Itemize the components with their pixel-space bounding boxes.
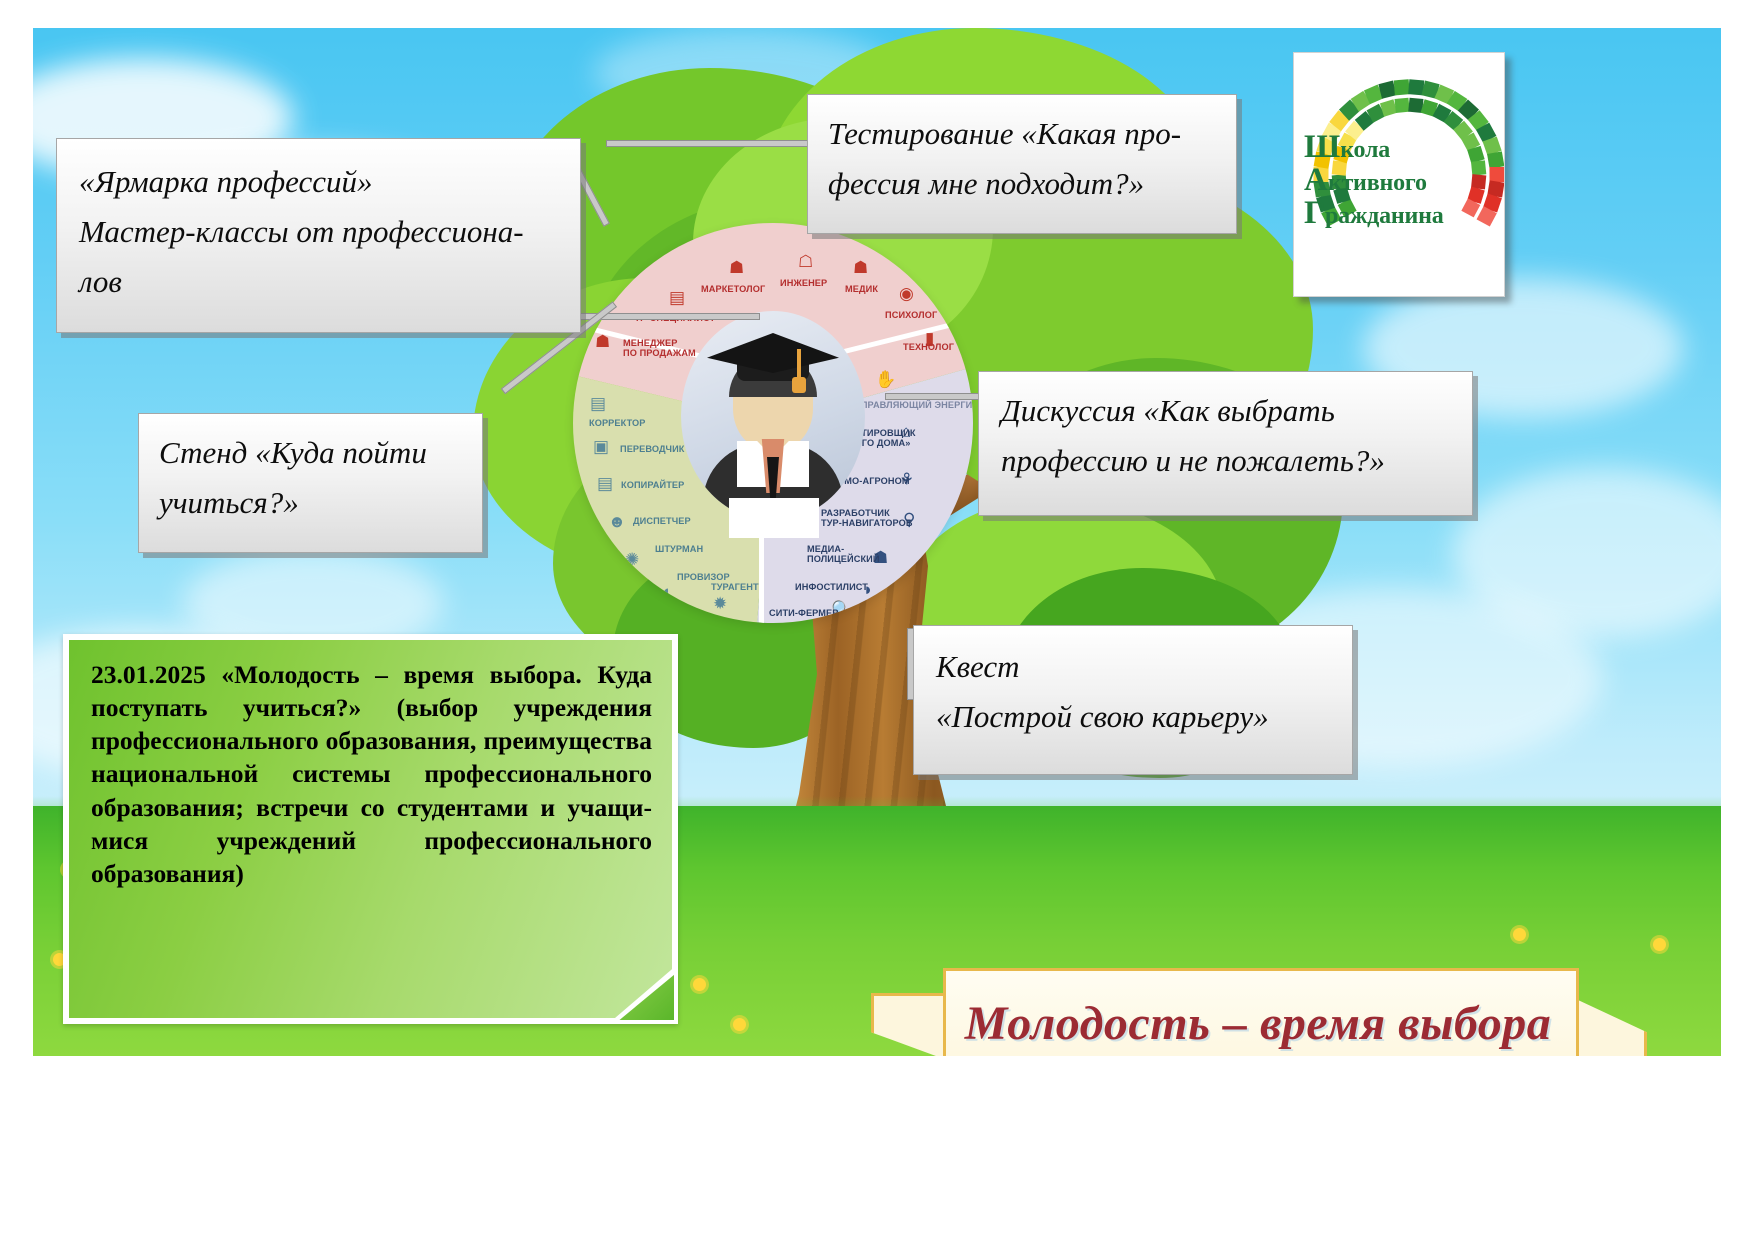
shkola-aktivnogo-grazhdanina-logo[interactable]: Школа Активного Гражданина <box>1293 52 1505 297</box>
callout-line: Стенд «Куда пойти <box>159 428 462 478</box>
tassel-knot <box>792 377 806 393</box>
green-note-description[interactable]: 23.01.2025 «Молодость – время выбора. Ку… <box>63 634 678 1024</box>
mortarboard-icon <box>707 333 839 373</box>
wheel-label: ИНФОСТИЛИСТ <box>795 583 868 593</box>
callout-line: Квест <box>936 642 1330 692</box>
wheel-label: МЕНЕДЖЕР ПО ПРОДАЖАМ <box>623 339 696 359</box>
logo-line1-cap: Ш <box>1304 129 1340 165</box>
wheel-label: МЕДИК <box>845 285 878 295</box>
logo-line2-cap: А <box>1304 162 1328 198</box>
callout-line: Мастер-классы от профессиона- <box>79 207 558 257</box>
brain-icon: ◉ <box>899 285 914 302</box>
callout-line: учиться?» <box>159 478 462 528</box>
wheel-label: СИТИ-ФЕРМЕР <box>769 609 839 619</box>
callout-testirovanie[interactable]: Тестирование «Какая про- фессия мне подх… <box>807 94 1237 234</box>
salesman-icon: ☗ <box>595 333 610 350</box>
callout-line: профессию и не пожалеть?» <box>1001 436 1450 486</box>
professions-wheel: ▤ IT- СПЕЦИАЛИСТ ☗ МАРКЕТОЛОГ ☖ ИНЖЕНЕР … <box>573 223 973 623</box>
green-note-text: 23.01.2025 «Молодость – время выбора. Ку… <box>91 660 652 888</box>
graduate-avatar <box>681 311 865 521</box>
logo-line3-cap: Г <box>1304 195 1325 231</box>
callout-line: Тестирование «Какая про- <box>828 109 1216 159</box>
callout-stend[interactable]: Стенд «Куда пойти учиться?» <box>138 413 483 553</box>
wheel-label: ИНЖЕНЕР <box>780 279 827 289</box>
wheel-label: МАРКЕТОЛОГ <box>701 285 765 295</box>
callout-line: «Ярмарка профессий» <box>79 157 558 207</box>
tassel-icon <box>797 349 801 379</box>
ship-wheel-icon: ✺ <box>625 551 639 568</box>
logo-line2-rest: ктивного <box>1328 170 1427 196</box>
wheel-label: ПСИХОЛОГ <box>885 311 937 321</box>
doctor-icon: ☗ <box>853 259 868 276</box>
callout-line: «Построй свою карьеру» <box>936 692 1330 742</box>
ribbon-title: Молодость – время выбора <box>943 968 1573 1056</box>
wheel-label: ШТУРМАН <box>655 545 703 555</box>
wheel-label: ТУРАГЕНТ <box>711 583 759 593</box>
translate-icon: ▣ <box>593 438 609 455</box>
callout-diskussiya[interactable]: Дискуссия «Как выбрать профессию и не по… <box>978 371 1473 516</box>
engineer-icon: ☖ <box>798 253 813 270</box>
document-icon: ▤ <box>597 475 613 492</box>
wheel-label: ДИСПЕТЧЕР <box>633 517 691 527</box>
whiteboard-icon: ▤ <box>590 395 606 412</box>
callout-kvest[interactable]: Квест «Построй свою карьеру» <box>913 625 1353 775</box>
logo-line1-rest: кола <box>1340 137 1390 163</box>
wheel-label: ГМО-АГРОНОМ <box>839 477 910 487</box>
code-window-icon: ▤ <box>669 289 685 306</box>
wheel-label: МЕДИА- ПОЛИЦЕЙСКИЙ <box>807 545 880 565</box>
white-patch <box>729 498 819 538</box>
flower-icon <box>1653 938 1666 951</box>
logo-text: Школа Активного Гражданина <box>1304 131 1454 230</box>
flower-icon <box>693 978 706 991</box>
wheel-label: КОПИРАЙТЕР <box>621 481 684 491</box>
pills-icon: ◖ <box>661 583 671 600</box>
callout-line: фессия мне подходит?» <box>828 159 1216 209</box>
flower-icon <box>1513 928 1526 941</box>
presenter-icon: ☗ <box>729 259 744 276</box>
callout-yarmarka-professiy[interactable]: «Ярмарка профессий» Мастер-классы от про… <box>56 138 581 333</box>
wheel-label: УПРАВЛЯЮЩИЙ ЭНЕРГИЕЙ <box>855 401 973 411</box>
wheel-label: ПЕРЕВОДЧИК <box>620 445 685 455</box>
flower-icon <box>733 1018 746 1031</box>
headset-operator-icon: ☻ <box>608 513 626 530</box>
callout-line: Дискуссия «Как выбрать <box>1001 386 1450 436</box>
wheel-label: КОРРЕКТОР <box>589 419 646 429</box>
callout-line: лов <box>79 257 558 307</box>
globe-icon: ✹ <box>713 595 727 612</box>
leader-line-testing <box>606 140 808 147</box>
wheel-label: ТЕХНОЛОГ <box>903 343 954 353</box>
logo-line3-rest: ражданина <box>1325 203 1444 229</box>
hand-plant-icon: ✋ <box>875 371 896 388</box>
poster-slide: ▤ IT- СПЕЦИАЛИСТ ☗ МАРКЕТОЛОГ ☖ ИНЖЕНЕР … <box>33 28 1721 1056</box>
